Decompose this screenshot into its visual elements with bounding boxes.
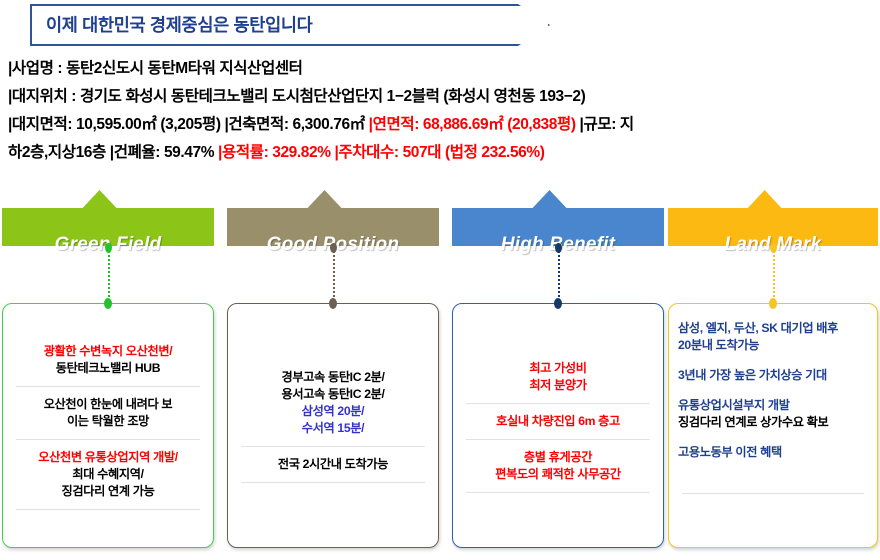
feature-block: 삼성, 엘지, 두산, SK 대기업 배후20분내 도착가능 [678, 318, 868, 356]
feature-card-green-field[interactable]: 광활한 수변녹지 오산천변/동탄테크노밸리 HUB오산천이 한눈에 내려다 보이… [2, 303, 214, 548]
feature-text-line: 용서고속 동탄IC 2분/ [237, 386, 429, 403]
spec-line-business-name: |사업명 : 동탄2신도시 동탄M타워 지식산업센터 [8, 55, 880, 83]
spec-segment: |용적률: 329.82% |주차대수: 507대 (법정 232.56%) [218, 144, 545, 161]
feature-text-line: 광활한 수변녹지 오산천변/ [12, 343, 204, 360]
spec-segment: |대지위치 : 경기도 화성시 동탄테크노밸리 도시첨단산업단지 1−2블럭 (… [8, 88, 585, 105]
feature-block: 경부고속 동탄IC 2분/용서고속 동탄IC 2분/삼성역 20분/수서역 15… [237, 367, 429, 439]
feature-text-line: 징검다리 연계로 상가수요 확보 [678, 414, 868, 431]
feature-block: 층별 휴게공간편복도의 쾌적한 사무공간 [462, 447, 654, 485]
block-divider [16, 386, 200, 387]
feature-block: 고용노동부 이전 혜택 [678, 442, 868, 463]
spec-line-site-location: |대지위치 : 경기도 화성시 동탄테크노밸리 도시첨단산업단지 1−2블럭 (… [8, 83, 880, 111]
connector-pin-top-icon [555, 243, 562, 253]
feature-block: 호실내 차량진입 6m 층고 [462, 411, 654, 432]
feature-block: 전국 2시간내 도착가능 [237, 454, 429, 475]
block-divider [241, 446, 425, 447]
feature-text-line: 동탄테크노밸리 HUB [12, 360, 204, 377]
block-spacer [678, 386, 868, 395]
connector-dotted-line [333, 247, 335, 305]
page-title: 이제 대한민국 경제중심은 동탄입니다 [46, 4, 313, 46]
feature-text-line: 20분내 도착가능 [678, 337, 868, 354]
feature-text-line: 최대 수혜지역/ [12, 466, 204, 483]
block-divider [466, 403, 650, 404]
connector-pin-bottom-icon [329, 298, 337, 309]
feature-text-line: 삼성, 엘지, 두산, SK 대기업 배후 [678, 320, 868, 337]
block-divider [16, 509, 200, 510]
feature-text-line: 3년내 가장 높은 가치상승 기대 [678, 367, 868, 384]
header-banner: 이제 대한민국 경제중심은 동탄입니다 [30, 4, 550, 46]
feature-text-line: 징검다리 연계 가능 [12, 483, 204, 500]
feature-block: 오산천이 한눈에 내려다 보이는 탁월한 조망 [12, 394, 204, 432]
block-spacer [678, 433, 868, 442]
feature-text-line: 층별 휴게공간 [462, 449, 654, 466]
feature-text-line: 유통상업시설부지 개발 [678, 397, 868, 414]
feature-text-line: 최저 분양가 [462, 377, 654, 394]
banner-high-benefit[interactable]: High Benefit [452, 208, 664, 246]
connector-pin-bottom-icon [104, 298, 112, 309]
connector-pin-top-icon [770, 243, 777, 253]
feature-card-body: 삼성, 엘지, 두산, SK 대기업 배후20분내 도착가능3년내 가장 높은 … [669, 304, 877, 547]
spec-segment: |사업명 : 동탄2신도시 동탄M타워 지식산업센터 [8, 60, 303, 77]
connector-pin-top-icon [105, 243, 112, 253]
connector-pin-bottom-icon [554, 298, 562, 309]
feature-text-line: 수서역 15분/ [237, 420, 429, 437]
feature-card-body: 경부고속 동탄IC 2분/용서고속 동탄IC 2분/삼성역 20분/수서역 15… [228, 304, 438, 547]
spec-segment: 하2층,지상16층 |건폐율: 59.47% [8, 144, 218, 161]
spec-line-areas: |대지면적: 10,595.00㎡ (3,205평) |건축면적: 6,300.… [8, 111, 880, 139]
spec-segment: |연면적: 68,886.69㎡ (20,838평) [369, 116, 576, 133]
feature-card-high-benefit[interactable]: 최고 가성비최저 분양가호실내 차량진입 6m 층고층별 휴게공간편복도의 쾌적… [452, 303, 664, 548]
block-divider [466, 492, 650, 493]
feature-card-body: 광활한 수변녹지 오산천변/동탄테크노밸리 HUB오산천이 한눈에 내려다 보이… [3, 304, 213, 547]
banner-good-position[interactable]: Good Position [227, 208, 439, 246]
feature-text-line: 오산천이 한눈에 내려다 보 [12, 396, 204, 413]
feature-text-line: 경부고속 동탄IC 2분/ [237, 369, 429, 386]
block-divider [241, 482, 425, 483]
feature-text-line: 호실내 차량진입 6m 층고 [462, 413, 654, 430]
block-divider [16, 439, 200, 440]
connector-dotted-line [108, 247, 110, 305]
connector-pin-top-icon [330, 243, 337, 253]
connector-dotted-line [773, 247, 775, 305]
block-spacer [678, 356, 868, 365]
spec-segment: |대지면적: 10,595.00㎡ (3,205평) |건축면적: 6,300.… [8, 116, 369, 133]
project-specs: |사업명 : 동탄2신도시 동탄M타워 지식산업센터|대지위치 : 경기도 화성… [8, 55, 880, 167]
connector-pin-bottom-icon [769, 298, 777, 309]
block-divider [682, 493, 864, 494]
feature-block: 오산천변 유통상업지역 개발/최대 수혜지역/징검다리 연계 가능 [12, 447, 204, 502]
feature-text-line: 편복도의 쾌적한 사무공간 [462, 466, 654, 483]
spec-line-ratios: 하2층,지상16층 |건폐율: 59.47% |용적률: 329.82% |주차… [8, 139, 880, 167]
feature-block: 최고 가성비최저 분양가 [462, 358, 654, 396]
feature-card-body: 최고 가성비최저 분양가호실내 차량진입 6m 층고층별 휴게공간편복도의 쾌적… [453, 304, 663, 547]
banner-land-mark[interactable]: Land Mark [668, 208, 878, 246]
feature-text-line: 이는 탁월한 조망 [12, 413, 204, 430]
connector-dotted-line [558, 247, 560, 305]
feature-block: 광활한 수변녹지 오산천변/동탄테크노밸리 HUB [12, 341, 204, 379]
spec-segment: |규모: 지 [576, 116, 634, 133]
feature-text-line: 삼성역 20분/ [237, 403, 429, 420]
feature-text-line: 고용노동부 이전 혜택 [678, 444, 868, 461]
feature-block: 유통상업시설부지 개발징검다리 연계로 상가수요 확보 [678, 395, 868, 433]
banner-green-field[interactable]: Green Field [2, 208, 214, 246]
feature-text-line: 오산천변 유통상업지역 개발/ [12, 449, 204, 466]
feature-card-land-mark[interactable]: 삼성, 엘지, 두산, SK 대기업 배후20분내 도착가능3년내 가장 높은 … [668, 303, 878, 548]
block-divider [466, 439, 650, 440]
feature-text-line: 전국 2시간내 도착가능 [237, 456, 429, 473]
feature-card-good-position[interactable]: 경부고속 동탄IC 2분/용서고속 동탄IC 2분/삼성역 20분/수서역 15… [227, 303, 439, 548]
feature-text-line: 최고 가성비 [462, 360, 654, 377]
feature-block: 3년내 가장 높은 가치상승 기대 [678, 365, 868, 386]
